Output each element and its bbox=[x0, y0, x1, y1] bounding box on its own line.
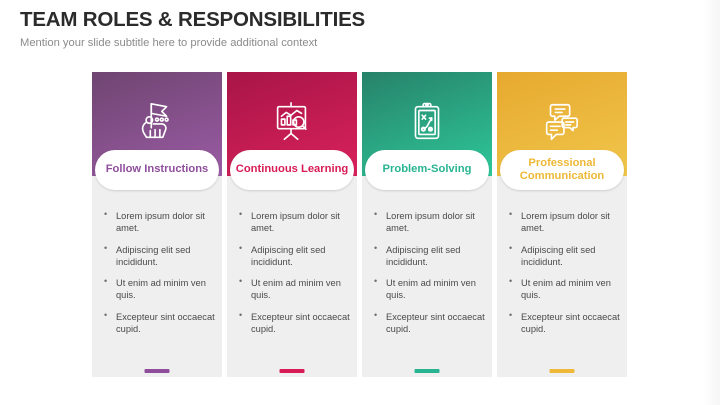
card-professional-communication[interactable]: Professional Communication Lorem ipsum d… bbox=[497, 72, 627, 377]
bullet-list: Lorem ipsum dolor sit amet. Adipiscing e… bbox=[233, 210, 351, 335]
slide-header: TEAM ROLES & RESPONSIBILITIES Mention yo… bbox=[20, 8, 620, 50]
card-accent-bar bbox=[280, 369, 305, 373]
list-item: Excepteur sint occaecat cupid. bbox=[368, 311, 486, 336]
card-header: Continuous Learning bbox=[227, 72, 357, 176]
card-body: Lorem ipsum dolor sit amet. Adipiscing e… bbox=[227, 176, 357, 377]
list-item: Ut enim ad minim ven quis. bbox=[233, 277, 351, 302]
list-item: Excepteur sint occaecat cupid. bbox=[233, 311, 351, 336]
list-item: Lorem ipsum dolor sit amet. bbox=[98, 210, 216, 235]
card-title-pill[interactable]: Follow Instructions bbox=[95, 150, 219, 190]
card-title-pill[interactable]: Continuous Learning bbox=[230, 150, 354, 190]
list-item: Lorem ipsum dolor sit amet. bbox=[368, 210, 486, 235]
card-title-label: Professional Communication bbox=[500, 157, 624, 183]
list-item: Adipiscing elit sed incididunt. bbox=[98, 244, 216, 269]
list-item: Adipiscing elit sed incididunt. bbox=[368, 244, 486, 269]
page-title: TEAM ROLES & RESPONSIBILITIES bbox=[20, 8, 620, 32]
card-problem-solving[interactable]: Problem-Solving Lorem ipsum dolor sit am… bbox=[362, 72, 492, 377]
bullet-list: Lorem ipsum dolor sit amet. Adipiscing e… bbox=[368, 210, 486, 335]
page-subtitle: Mention your slide subtitle here to prov… bbox=[20, 37, 620, 50]
clipboard-strategy-icon bbox=[404, 99, 450, 145]
list-item: Ut enim ad minim ven quis. bbox=[503, 277, 621, 302]
list-item: Excepteur sint occaecat cupid. bbox=[98, 311, 216, 336]
card-header: Follow Instructions bbox=[92, 72, 222, 176]
card-body: Lorem ipsum dolor sit amet. Adipiscing e… bbox=[92, 176, 222, 377]
card-accent-bar bbox=[145, 369, 170, 373]
list-item: Excepteur sint occaecat cupid. bbox=[503, 311, 621, 336]
list-item: Ut enim ad minim ven quis. bbox=[368, 277, 486, 302]
card-title-label: Continuous Learning bbox=[232, 163, 353, 176]
slide-canvas: TEAM ROLES & RESPONSIBILITIES Mention yo… bbox=[0, 0, 720, 405]
card-accent-bar bbox=[550, 369, 575, 373]
card-body: Lorem ipsum dolor sit amet. Adipiscing e… bbox=[497, 176, 627, 377]
list-item: Adipiscing elit sed incididunt. bbox=[233, 244, 351, 269]
card-title-pill[interactable]: Problem-Solving bbox=[365, 150, 489, 190]
card-follow-instructions[interactable]: Follow Instructions Lorem ipsum dolor si… bbox=[92, 72, 222, 377]
presentation-chart-magnifier-icon bbox=[269, 99, 315, 145]
hand-pointing-flag-icon bbox=[134, 99, 180, 145]
card-body: Lorem ipsum dolor sit amet. Adipiscing e… bbox=[362, 176, 492, 377]
card-header: Problem-Solving bbox=[362, 72, 492, 176]
chat-bubbles-icon bbox=[539, 99, 585, 145]
card-header: Professional Communication bbox=[497, 72, 627, 176]
list-item: Adipiscing elit sed incididunt. bbox=[503, 244, 621, 269]
card-group: Follow Instructions Lorem ipsum dolor si… bbox=[92, 72, 638, 377]
card-title-pill[interactable]: Professional Communication bbox=[500, 150, 624, 190]
card-accent-bar bbox=[415, 369, 440, 373]
card-title-label: Follow Instructions bbox=[102, 163, 213, 176]
card-continuous-learning[interactable]: Continuous Learning Lorem ipsum dolor si… bbox=[227, 72, 357, 377]
bullet-list: Lorem ipsum dolor sit amet. Adipiscing e… bbox=[503, 210, 621, 335]
list-item: Ut enim ad minim ven quis. bbox=[98, 277, 216, 302]
list-item: Lorem ipsum dolor sit amet. bbox=[503, 210, 621, 235]
list-item: Lorem ipsum dolor sit amet. bbox=[233, 210, 351, 235]
bullet-list: Lorem ipsum dolor sit amet. Adipiscing e… bbox=[98, 210, 216, 335]
card-title-label: Problem-Solving bbox=[379, 163, 476, 176]
